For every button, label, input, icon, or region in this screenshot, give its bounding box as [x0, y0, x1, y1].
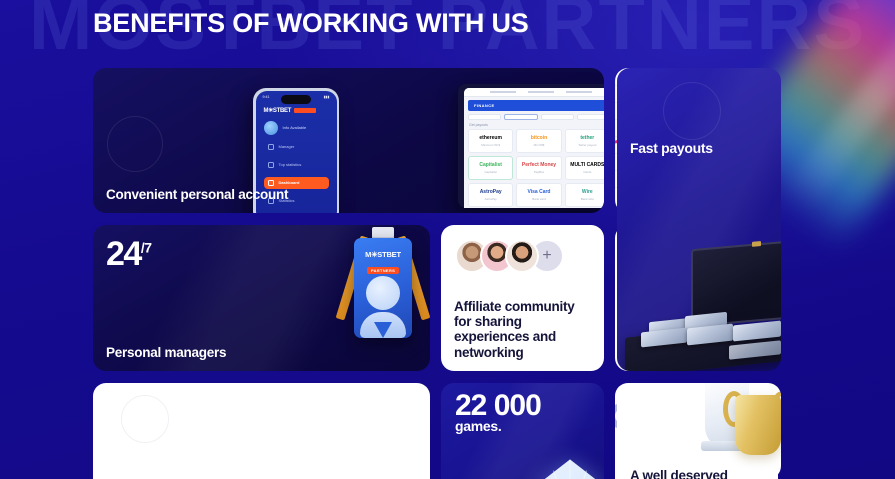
manager-badge-illustration: M✳STBET PARTNERS	[346, 227, 420, 345]
payment-tile[interactable]: MULTI CARDS Cards	[565, 156, 604, 180]
card-title: A well deserved	[630, 468, 771, 479]
menu-label: Top statistics	[279, 162, 302, 167]
phone-notch	[281, 95, 311, 104]
payment-name: tether	[580, 135, 594, 141]
page-root: MOSTBET PARTNERS BENEFITS OF WORKING WIT…	[0, 0, 895, 479]
payment-name: bitcoin	[531, 135, 547, 141]
dashboard-icon	[268, 180, 274, 186]
payment-sub: Cards	[583, 170, 591, 174]
payment-tile[interactable]: Capitalist Capitalist	[468, 156, 513, 180]
payment-sub: Minimum 50 $	[481, 143, 500, 147]
tablet-tab-active[interactable]	[504, 114, 537, 120]
phone-brand-tag	[294, 108, 316, 113]
badge-avatar-head	[366, 276, 400, 310]
stat-number: 24	[106, 235, 141, 273]
payment-name: MULTI CARDS	[570, 162, 604, 168]
card-title: Convenient personal account	[106, 187, 594, 202]
badge-avatar-collar	[374, 322, 392, 338]
payment-name: ethereum	[479, 135, 502, 141]
avatar	[264, 121, 278, 135]
menu-label: Manager	[279, 144, 295, 149]
page-header: BENEFITS OF WORKING WITH US	[0, 0, 895, 46]
games-count: 22 000 games.	[455, 391, 541, 433]
payment-name: Perfect Money	[522, 162, 556, 168]
payment-sub: Tether payout	[578, 143, 596, 147]
phone-menu-item-promo[interactable]: Promo	[264, 213, 329, 214]
payment-tile[interactable]: tether Tether payout	[565, 129, 604, 153]
stat-suffix: /7	[141, 240, 152, 256]
tablet-tab[interactable]	[577, 114, 604, 120]
stat-24-7: 24/7	[106, 237, 152, 271]
tablet-section-hint: Get payouts	[469, 123, 604, 127]
phone-brand-name: M✳STBET	[264, 107, 292, 114]
card-title: Fast payouts	[630, 140, 771, 156]
gold-cup	[735, 395, 781, 455]
chart-icon	[268, 162, 274, 168]
diamond-icon	[524, 454, 604, 479]
card-fast-payouts[interactable]: Fast payouts	[617, 68, 781, 371]
manager-icon	[268, 144, 274, 150]
money-suitcase-illustration	[625, 245, 781, 371]
phone-menu-item-manager[interactable]: Manager	[264, 141, 329, 153]
payment-tile[interactable]: ethereum Minimum 50 $	[468, 129, 513, 153]
menu-label: Dashboard	[279, 180, 300, 185]
payment-sub: Min 50$	[534, 143, 545, 147]
card-title: Affiliate community for sharing experien…	[454, 299, 594, 361]
decorative-ring	[663, 82, 721, 140]
phone-menu-item-top-statistics[interactable]: Top statistics	[264, 159, 329, 171]
card-title: Personal managers	[106, 345, 420, 360]
tablet-tab[interactable]	[468, 114, 501, 120]
phone-user-row[interactable]: Info Available	[264, 121, 337, 135]
card-strong-product[interactable]: 22 000 games.	[441, 383, 604, 479]
payment-sub: PayBox	[534, 170, 544, 174]
trophy-icon	[701, 383, 781, 475]
tablet-tabs	[468, 114, 604, 120]
badge-brand: M✳STBET	[354, 250, 412, 259]
badge-logo: M✳STBET PARTNERS	[354, 250, 412, 277]
phone-brand-logo: M✳STBET	[264, 107, 337, 114]
decorative-ring	[121, 395, 169, 443]
page-title: BENEFITS OF WORKING WITH US	[93, 10, 529, 37]
payment-name: Capitalist	[479, 162, 502, 168]
badge-tag: PARTNERS	[367, 267, 399, 274]
card-affiliate-community[interactable]: + Affiliate community for sharing experi…	[441, 225, 604, 371]
payment-sub: Capitalist	[484, 170, 496, 174]
suitcase-latch	[752, 241, 761, 247]
payment-tile[interactable]: Perfect Money PayBox	[516, 156, 561, 180]
community-avatars: +	[455, 239, 564, 273]
card-convenient-personal-account[interactable]: FINANCE Get payouts ethereum	[93, 68, 604, 213]
tablet-section-label: FINANCE	[474, 103, 495, 108]
card-unique-product[interactable]: Unique product, best performance	[93, 383, 430, 479]
card-personal-managers[interactable]: 24/7 M✳STBET PARTNERS Personal manag	[93, 225, 430, 371]
card-well-deserved[interactable]: A well deserved	[617, 383, 781, 479]
tablet-topbar	[464, 88, 604, 97]
avatar	[505, 239, 539, 273]
phone-user-name: Info Available	[283, 125, 307, 130]
badge-avatar-body	[360, 312, 406, 338]
payment-tile[interactable]: bitcoin Min 50$	[516, 129, 561, 153]
badge-card: M✳STBET PARTNERS	[354, 238, 412, 338]
tablet-section-bar: FINANCE	[468, 100, 604, 111]
tablet-tab[interactable]	[541, 114, 574, 120]
